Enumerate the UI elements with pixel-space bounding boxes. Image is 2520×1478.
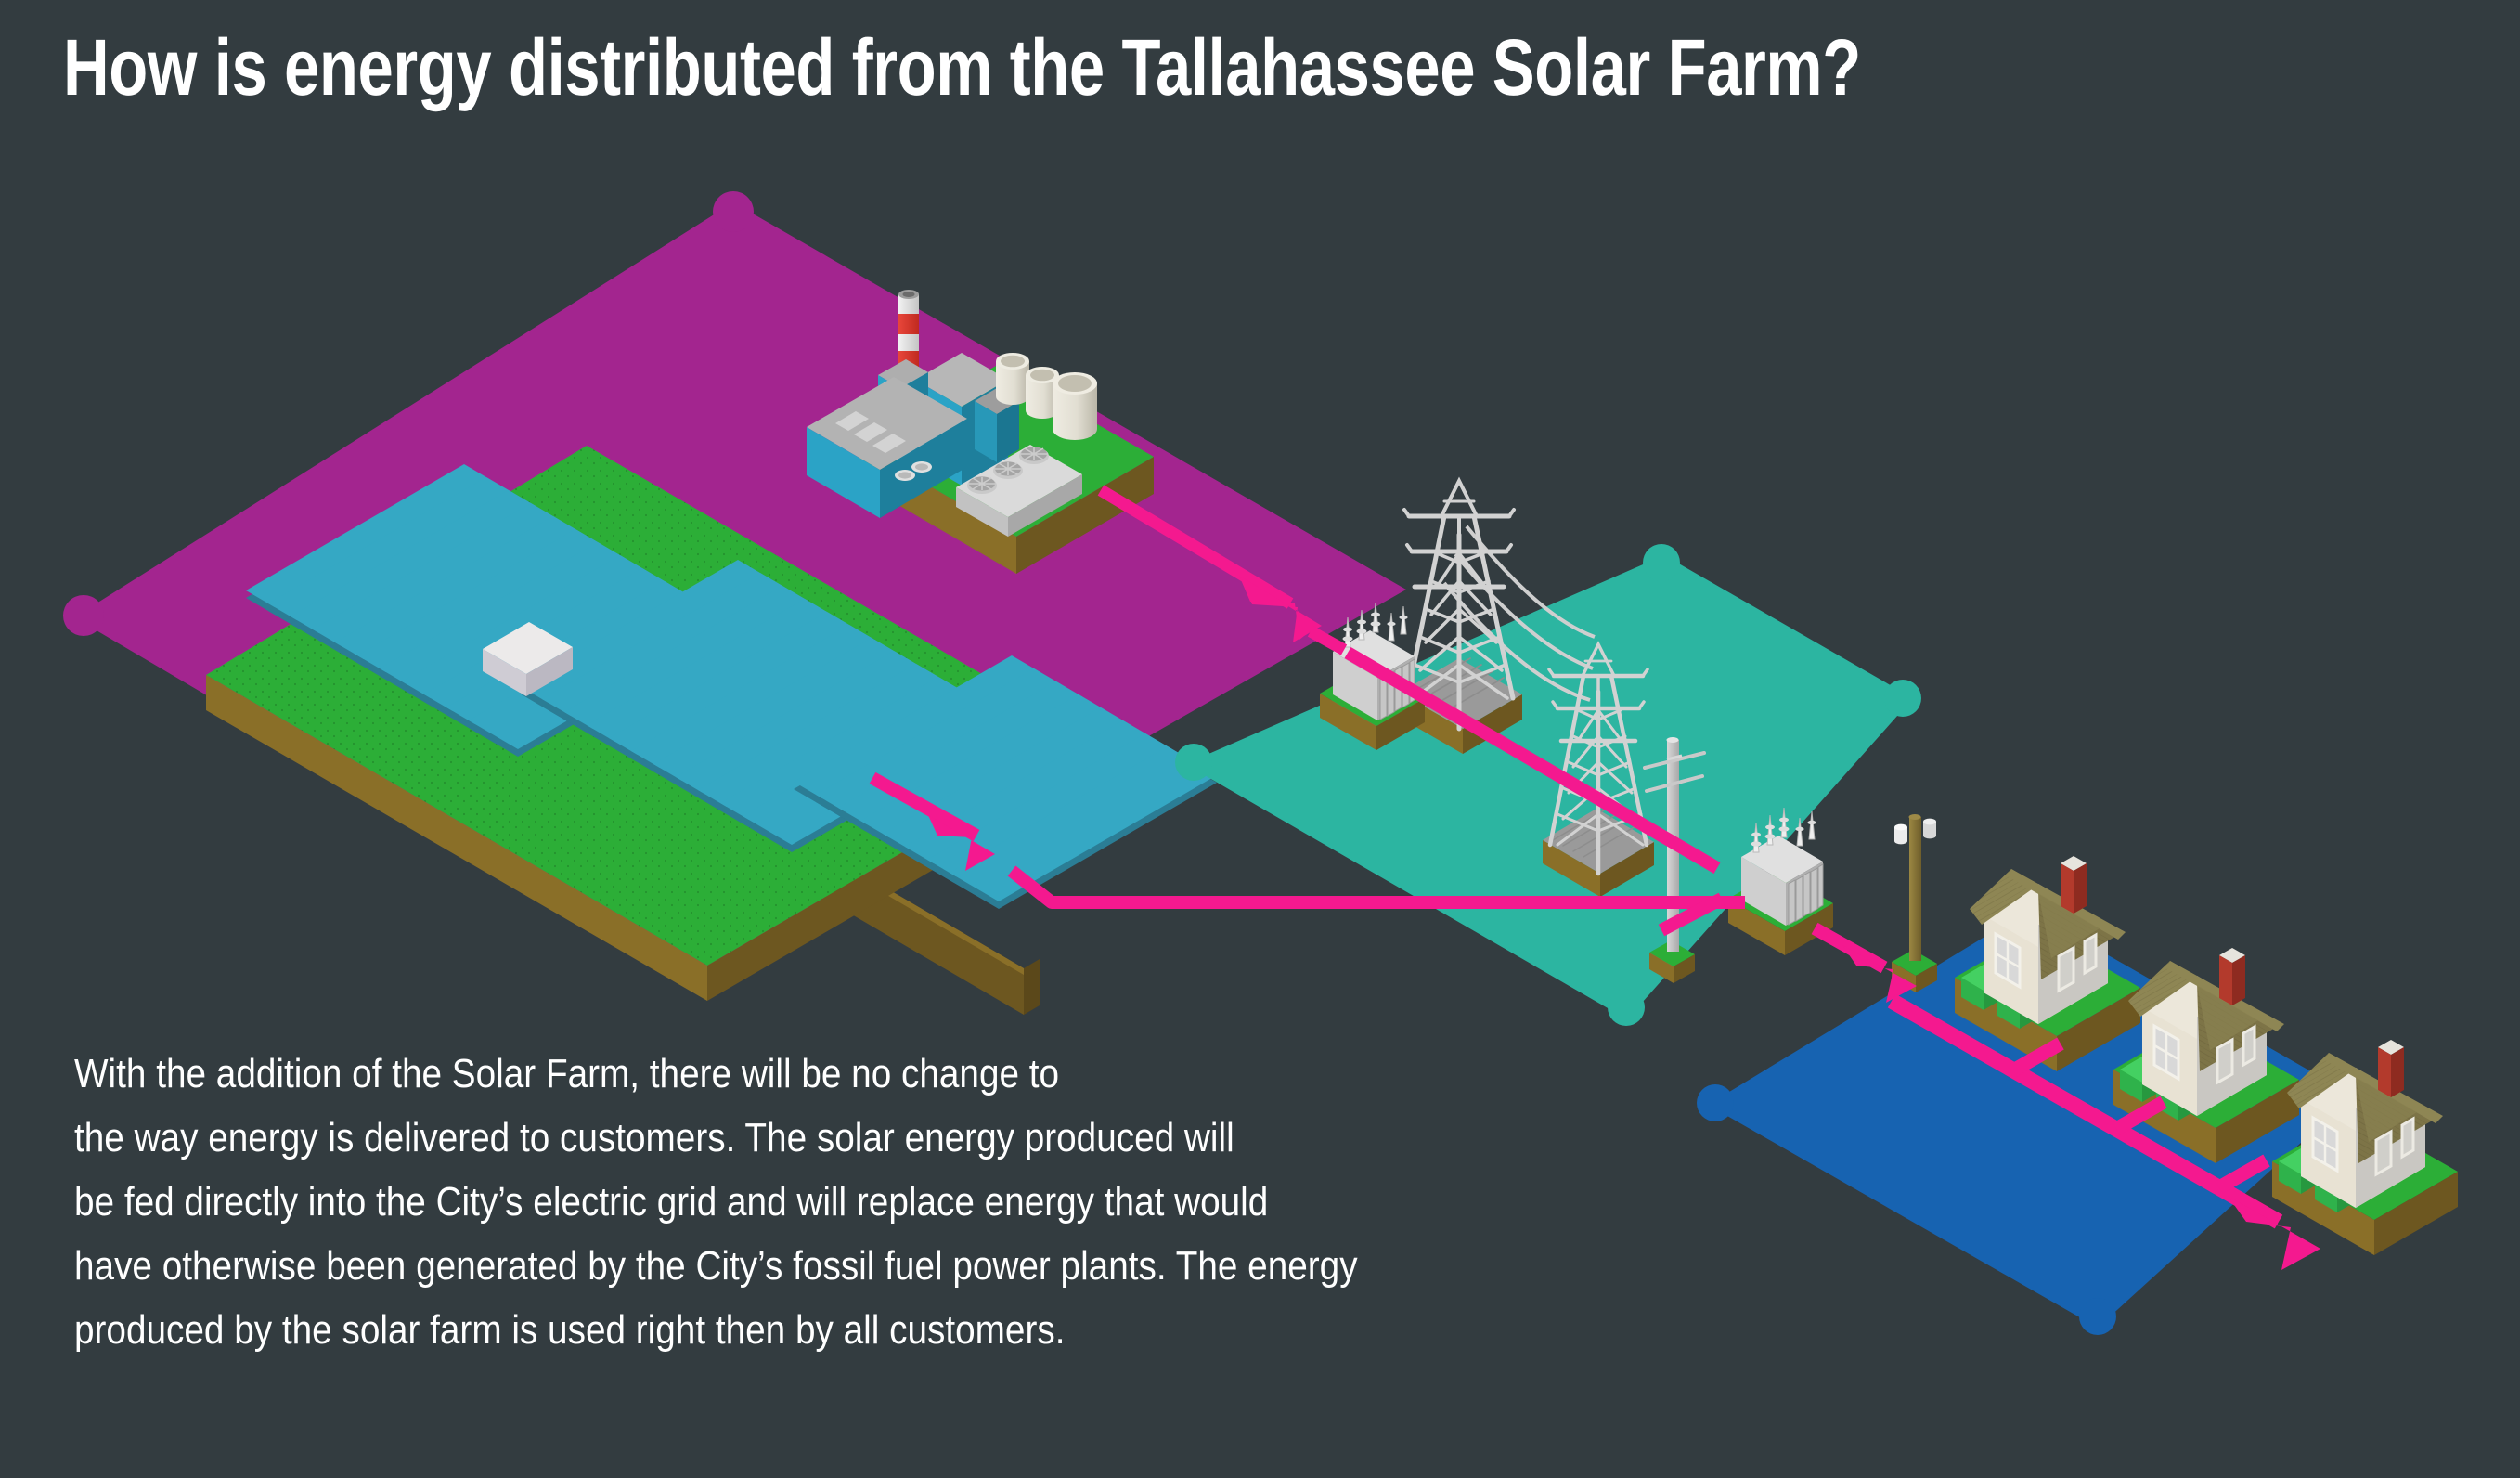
page-title: How is energy distributed from the Talla…: [63, 22, 1861, 114]
chimney: [2061, 856, 2087, 914]
chimney: [2378, 1040, 2404, 1097]
window: [2059, 948, 2074, 991]
storage-tank-small-1: [996, 353, 1029, 405]
body-paragraph: With the addition of the Solar Farm, the…: [74, 1042, 1708, 1362]
chimney: [2219, 948, 2245, 1005]
storage-tank-large: [1053, 372, 1097, 440]
window: [2085, 935, 2096, 973]
window: [2376, 1132, 2391, 1174]
utility-pole-distribution: [1892, 814, 1937, 992]
window: [2402, 1119, 2413, 1157]
window: [2217, 1040, 2232, 1083]
window: [2243, 1027, 2255, 1065]
infographic-canvas: How is energy distributed from the Talla…: [0, 0, 2520, 1478]
